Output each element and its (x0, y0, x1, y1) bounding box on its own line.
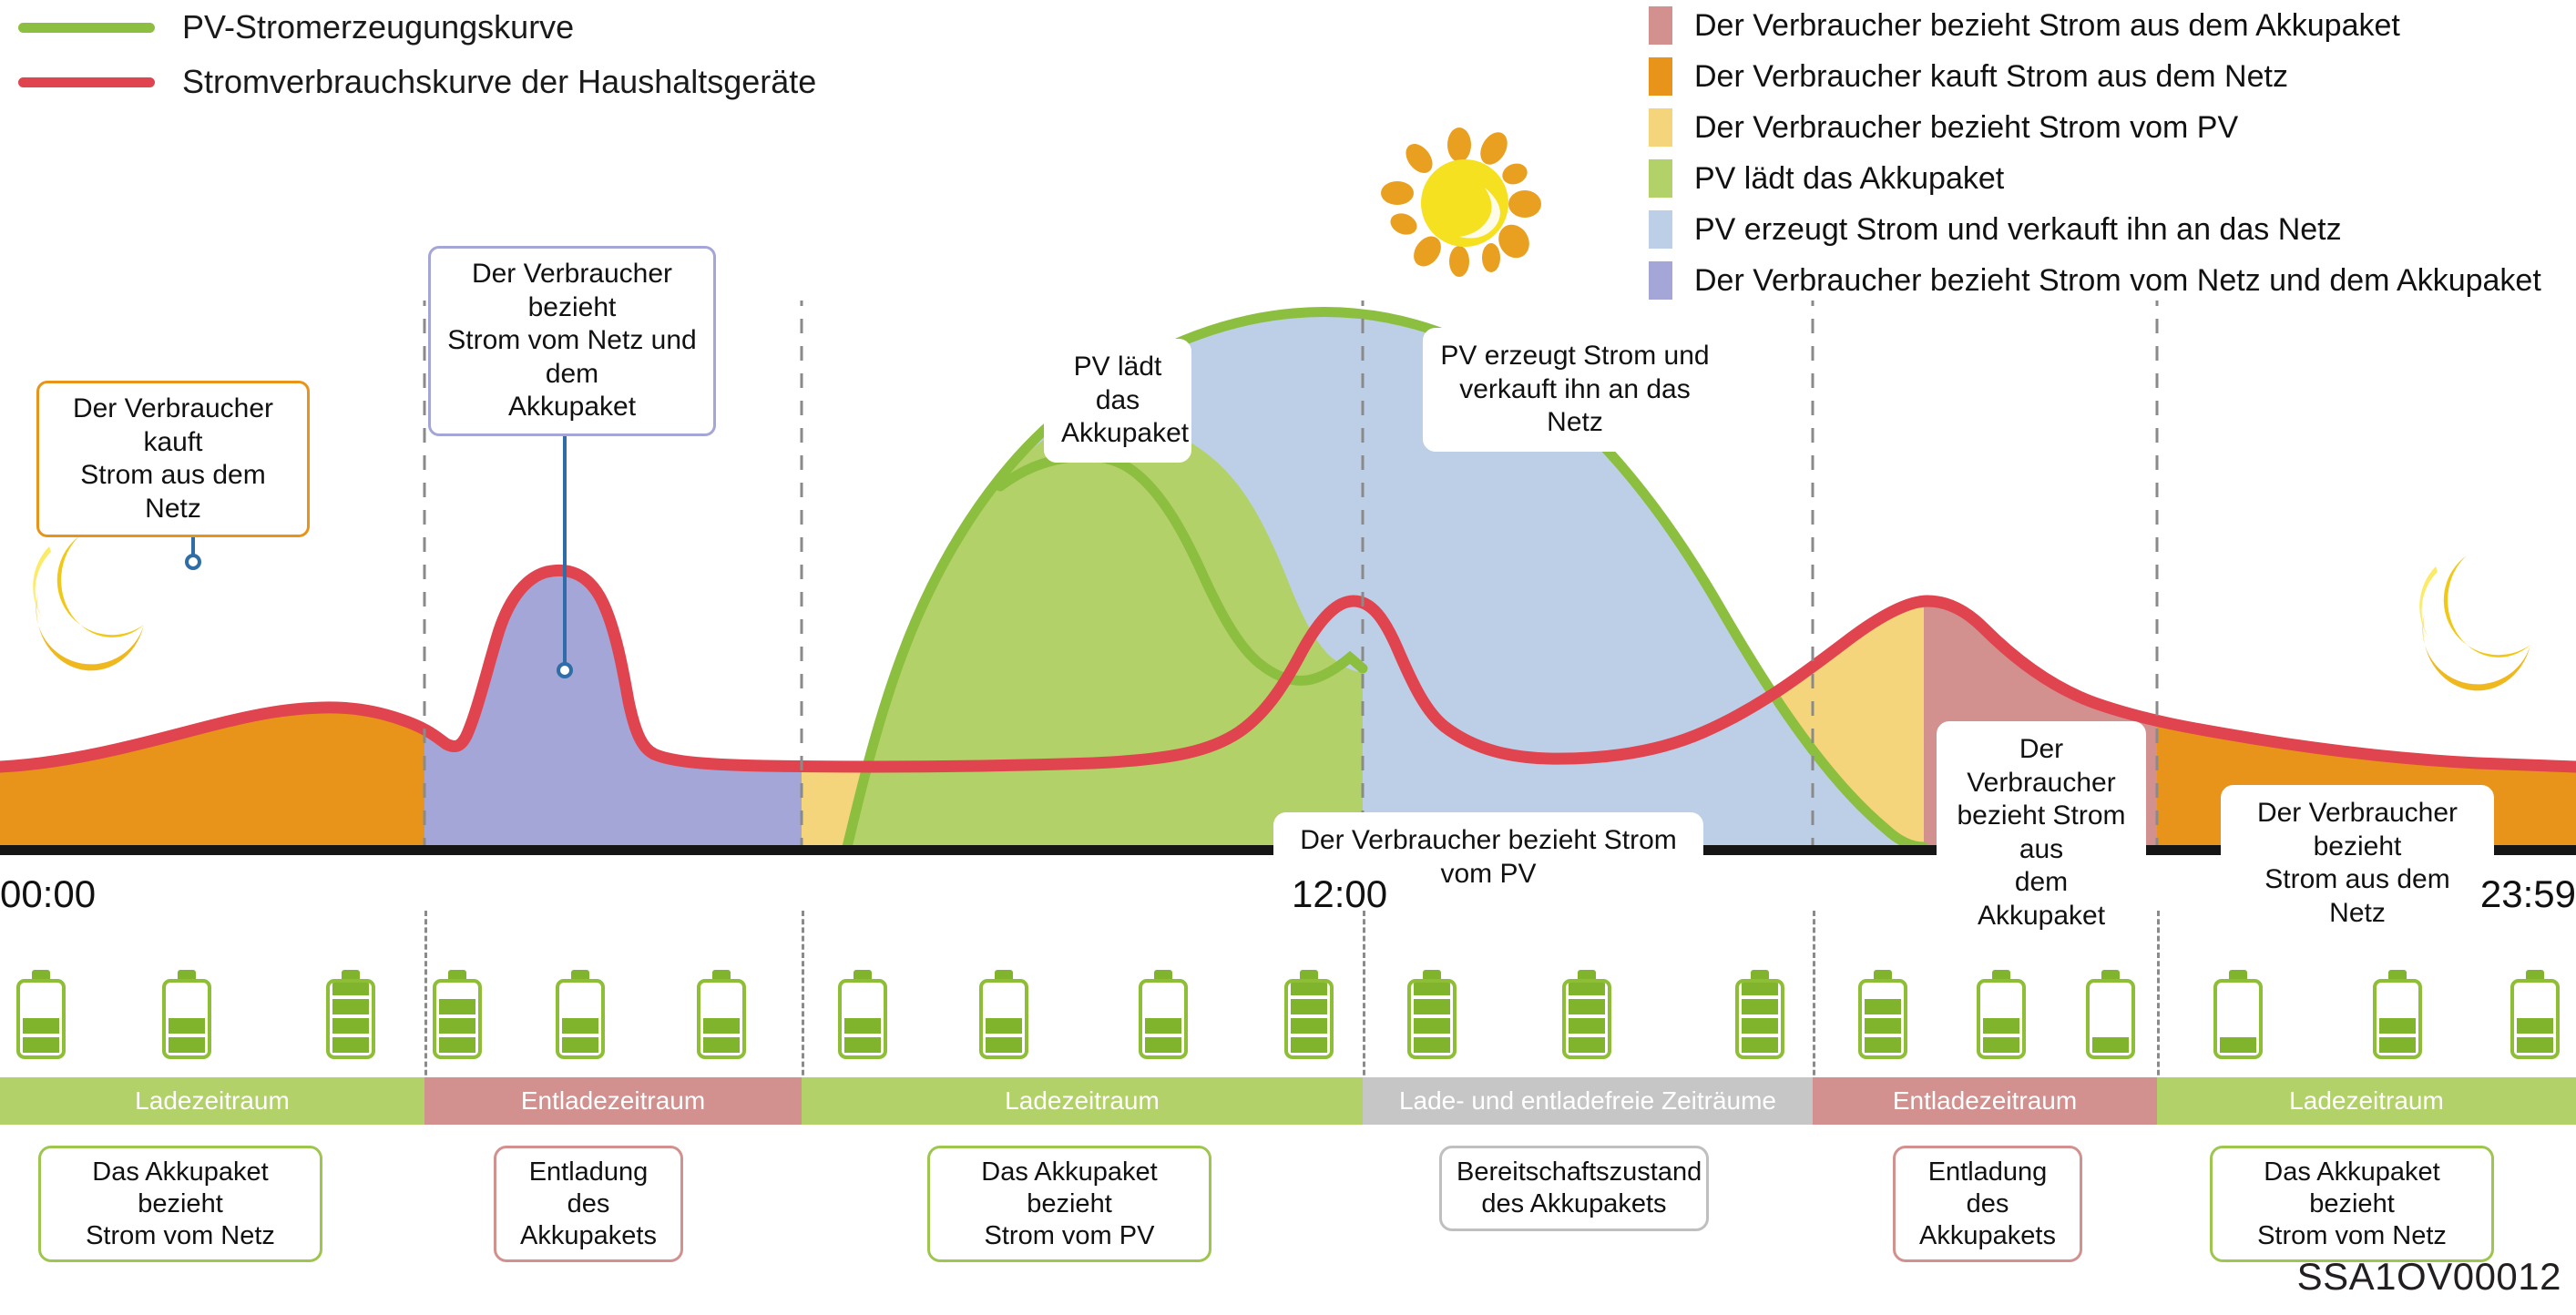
battery-body (1977, 979, 2026, 1059)
battery-level-segment (844, 1018, 881, 1034)
legend-item-pv-curve: PV-Stromerzeugungskurve (0, 0, 911, 55)
battery-body (326, 979, 375, 1059)
legend-item-pv-charges-battery: PV lädt das Akkupaket (1649, 153, 2576, 204)
battery-tip (1423, 970, 1441, 979)
callout-grid-and-battery: Der Verbraucher beziehtStrom vom Netz un… (428, 246, 716, 436)
legend-item-label: PV erzeugt Strom und verkauft ihn an das… (1694, 212, 2342, 248)
battery-level-segment (439, 999, 475, 1014)
axis-tick-mid: 12:00 (1292, 872, 1387, 916)
battery-tip (2229, 970, 2247, 979)
battery-level-segment (1742, 980, 1778, 995)
battery-icon (2086, 970, 2135, 1059)
battery-tip (2101, 970, 2120, 979)
battery-tip (1300, 970, 1318, 979)
battery-level-segment (1569, 1037, 1605, 1053)
battery-level-segment (439, 1018, 475, 1034)
battery-level-segment (703, 1018, 740, 1034)
bottom-callout-battery-from-grid: Das Akkupaket beziehtStrom vom Netz (38, 1146, 322, 1262)
battery-level-segment (1569, 999, 1605, 1014)
legend-item-battery-supply: Der Verbraucher bezieht Strom aus dem Ak… (1649, 0, 2576, 51)
battery-tip (1751, 970, 1769, 979)
axis-tick-start: 00:00 (0, 872, 96, 916)
battery-level-segment (169, 1018, 205, 1034)
color-swatch-icon (1649, 108, 1672, 147)
energy-flow-chart: Der Verbraucher kauftStrom aus dem Netz … (0, 301, 2576, 870)
battery-level-segment (1414, 999, 1450, 1014)
period-segment: Lade- und entladefreie Zeiträume (1363, 1077, 1813, 1125)
battery-icon (162, 970, 211, 1059)
battery-level-segment (1291, 1037, 1327, 1053)
line-swatch-icon (18, 23, 155, 33)
battery-body (1139, 979, 1188, 1059)
battery-icon (433, 970, 482, 1059)
color-swatch-icon (1649, 6, 1672, 45)
battery-tip (854, 970, 872, 979)
battery-icon (1858, 970, 1907, 1059)
battery-icon (2510, 970, 2560, 1059)
battery-tip (178, 970, 196, 979)
battery-level-segment (1983, 1037, 2019, 1053)
battery-level-segment (439, 1037, 475, 1053)
axis-tick-end: 23:59 (2480, 872, 2576, 916)
bottom-callout-battery-discharge-evening: Entladung desAkkupakets (1893, 1146, 2082, 1262)
battery-body (1562, 979, 1611, 1059)
battery-level-segment (1865, 999, 1901, 1014)
document-code: SSA1OV00012 (2297, 1255, 2561, 1299)
battery-tip (1154, 970, 1172, 979)
battery-level-segment (332, 1018, 369, 1034)
battery-body (1858, 979, 1907, 1059)
battery-tip (571, 970, 589, 979)
battery-body (2213, 979, 2263, 1059)
color-swatch-icon (1649, 210, 1672, 249)
battery-icon (2373, 970, 2422, 1059)
battery-level-segment (1414, 1037, 1450, 1053)
battery-tip (2526, 970, 2544, 979)
legend-item-pv-supply: Der Verbraucher bezieht Strom vom PV (1649, 102, 2576, 153)
period-segment: Ladezeitraum (802, 1077, 1363, 1125)
callout-buy-from-grid: Der Verbraucher kauftStrom aus dem Netz (36, 381, 310, 537)
battery-icon (1284, 970, 1334, 1059)
legend-item-label: Der Verbraucher kauft Strom aus dem Netz (1694, 59, 2288, 95)
battery-level-segment (169, 1037, 205, 1053)
battery-icon (1139, 970, 1188, 1059)
battery-body (1284, 979, 1334, 1059)
battery-level-segment (23, 1037, 59, 1053)
battery-tip (1874, 970, 1892, 979)
battery-body (162, 979, 211, 1059)
color-swatch-icon (1649, 159, 1672, 198)
legend-item-grid-and-battery: Der Verbraucher bezieht Strom vom Netz u… (1649, 255, 2576, 306)
battery-tip (342, 970, 360, 979)
battery-level-segment (1742, 1037, 1778, 1053)
legend-item-label: Der Verbraucher bezieht Strom vom Netz u… (1694, 263, 2541, 299)
battery-body (2373, 979, 2422, 1059)
bottom-callout-battery-from-pv: Das Akkupaket beziehtStrom vom PV (927, 1146, 1211, 1262)
battery-level-segment (1865, 1018, 1901, 1034)
battery-level-segment (1145, 1037, 1181, 1053)
battery-level-segment (703, 1037, 740, 1053)
battery-body (697, 979, 746, 1059)
battery-level-segment (1291, 999, 1327, 1014)
bottom-callout-battery-standby: Bereitschaftszustanddes Akkupakets (1439, 1146, 1709, 1231)
battery-level-segment (23, 1018, 59, 1034)
x-axis-labels: 00:00 12:00 23:59 (0, 872, 2576, 927)
sun-icon (1357, 117, 1585, 280)
battery-tip (448, 970, 466, 979)
battery-level-segment (2379, 1018, 2416, 1034)
bottom-callout-battery-discharge: Entladung desAkkupakets (494, 1146, 683, 1262)
battery-level-segment (562, 1037, 598, 1053)
battery-level-segment (332, 980, 369, 995)
battery-tip (1578, 970, 1596, 979)
legend-item-label: Der Verbraucher bezieht Strom aus dem Ak… (1694, 8, 2400, 44)
period-segment: Ladezeitraum (0, 1077, 424, 1125)
battery-body (556, 979, 605, 1059)
battery-icon (16, 970, 66, 1059)
color-swatch-icon (1649, 261, 1672, 300)
legend-item-label: Der Verbraucher bezieht Strom vom PV (1694, 110, 2238, 146)
battery-level-segment (1742, 1018, 1778, 1034)
battery-level-segment (1414, 1018, 1450, 1034)
period-segment: Ladezeitraum (2157, 1077, 2576, 1125)
battery-body (2510, 979, 2560, 1059)
battery-state-row (0, 970, 2576, 1070)
battery-level-segment (1291, 1018, 1327, 1034)
battery-body (979, 979, 1028, 1059)
battery-icon (979, 970, 1028, 1059)
battery-icon (2213, 970, 2263, 1059)
battery-icon (1407, 970, 1457, 1059)
legend-item-consumption-curve: Stromverbrauchskurve der Haushaltsgeräte (0, 55, 911, 109)
battery-level-segment (1865, 1037, 1901, 1053)
battery-body (2086, 979, 2135, 1059)
battery-body (838, 979, 887, 1059)
battery-tip (995, 970, 1013, 979)
battery-level-segment (986, 1018, 1022, 1034)
battery-level-segment (1569, 1018, 1605, 1034)
line-swatch-icon (18, 77, 155, 87)
legend-curves: PV-Stromerzeugungskurve Stromverbrauchsk… (0, 0, 911, 109)
period-segment: Entladezeitraum (1813, 1077, 2157, 1125)
battery-level-segment (2092, 1037, 2129, 1053)
callout-pv-sells-to-grid: PV erzeugt Strom undverkauft ihn an das … (1423, 328, 1727, 452)
battery-level-segment (986, 1037, 1022, 1053)
battery-icon (838, 970, 887, 1059)
battery-icon (556, 970, 605, 1059)
battery-icon (697, 970, 746, 1059)
period-segment: Entladezeitraum (424, 1077, 802, 1125)
battery-level-segment (844, 1037, 881, 1053)
battery-tip (712, 970, 731, 979)
battery-level-segment (1414, 980, 1450, 995)
legend-item-grid-purchase: Der Verbraucher kauft Strom aus dem Netz (1649, 51, 2576, 102)
battery-tip (32, 970, 50, 979)
battery-tip (2388, 970, 2407, 979)
legend-regions: Der Verbraucher bezieht Strom aus dem Ak… (1649, 0, 2576, 306)
battery-body (16, 979, 66, 1059)
battery-level-segment (2517, 1037, 2553, 1053)
battery-icon (1562, 970, 1611, 1059)
battery-tip (1992, 970, 2010, 979)
battery-level-segment (1145, 1018, 1181, 1034)
battery-body (1407, 979, 1457, 1059)
period-bar: Ladezeitraum Entladezeitraum Ladezeitrau… (0, 1077, 2576, 1125)
battery-icon (326, 970, 375, 1059)
battery-level-segment (1983, 1018, 2019, 1034)
battery-body (1735, 979, 1784, 1059)
battery-level-segment (332, 999, 369, 1014)
legend-item-label: Stromverbrauchskurve der Haushaltsgeräte (182, 63, 816, 101)
battery-icon (1735, 970, 1784, 1059)
battery-level-segment (2220, 1037, 2256, 1053)
battery-icon (1977, 970, 2026, 1059)
legend-item-pv-sells-grid: PV erzeugt Strom und verkauft ihn an das… (1649, 204, 2576, 255)
bottom-callout-battery-from-grid-night: Das Akkupaket beziehtStrom vom Netz (2210, 1146, 2494, 1262)
battery-level-segment (1742, 999, 1778, 1014)
battery-level-segment (2517, 1018, 2553, 1034)
battery-level-segment (2379, 1037, 2416, 1053)
legend-item-label: PV lädt das Akkupaket (1694, 161, 2004, 197)
legend-item-label: PV-Stromerzeugungskurve (182, 8, 574, 46)
callout-pv-charges-battery: PV lädt dasAkkupaket (1044, 339, 1191, 463)
battery-level-segment (562, 1018, 598, 1034)
color-swatch-icon (1649, 57, 1672, 96)
battery-body (433, 979, 482, 1059)
battery-level-segment (1291, 980, 1327, 995)
battery-level-segment (1569, 980, 1605, 995)
battery-level-segment (332, 1037, 369, 1053)
